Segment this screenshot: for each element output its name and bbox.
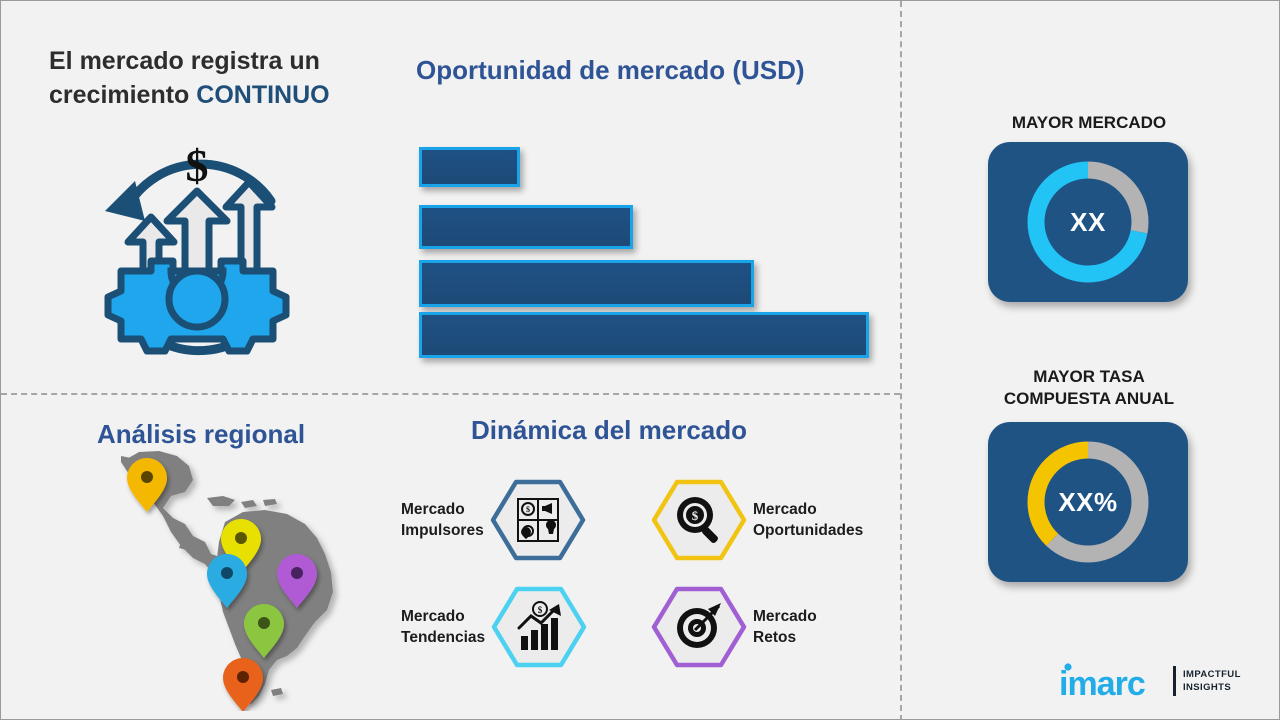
growth-heading: El mercado registra un crecimiento CONTI… [49,45,399,112]
infographic-slide: El mercado registra un crecimiento CONTI… [0,0,1280,720]
hexagon-challenges [651,586,747,668]
dollar-sign-icon: $ [186,140,209,191]
vertical-divider [900,1,902,720]
latin-america-map [119,446,369,711]
growth-heading-line2: crecimiento [49,81,196,109]
kpi-card-largest-market: XX [988,142,1188,302]
hexagon-opportunities: $ [651,479,747,561]
svg-text:imarc: imarc [1059,665,1145,701]
kpi-title-highest-cagr: MAYOR TASA COMPUESTA ANUAL [959,366,1219,410]
dynamics-item-drivers[interactable]: Mercado Impulsores $ [401,479,586,561]
dynamics-title: Dinámica del mercado [471,415,871,446]
svg-text:$: $ [538,605,543,615]
dynamics-label-opportunities: Mercado Oportunidades [753,499,863,541]
bar-2 [419,260,754,307]
growth-heading-accent: CONTINUO [196,81,329,109]
hexagon-drivers: $ [490,479,586,561]
kpi-title-largest-market: MAYOR MERCADO [959,112,1219,134]
horizontal-divider [1,393,900,395]
dynamics-label-trends: Mercado Tendencias [401,606,485,648]
bar-1 [419,205,633,249]
opportunity-title: Oportunidad de mercado (USD) [416,55,896,86]
svg-text:$: $ [526,505,530,514]
bar-0 [419,147,520,187]
dynamics-item-opportunities[interactable]: $ Mercado Oportunidades [651,479,863,561]
growth-gear-arrows-icon: $ [73,139,323,374]
svg-text:$: $ [692,508,699,523]
dynamics-label-drivers: Mercado Impulsores [401,499,484,541]
imarc-wordmark: imarc [1059,661,1171,701]
donut-chart-highest-cagr [1019,433,1157,571]
growth-heading-line1: El mercado registra un [49,47,320,75]
opportunity-bar-chart [419,147,889,357]
bar-3 [419,312,869,358]
hexagon-trends: $ [491,586,587,668]
kpi-card-highest-cagr: XX% [988,422,1188,582]
market-dynamics-group: Mercado Impulsores $ [393,479,898,679]
dynamics-item-trends[interactable]: Mercado Tendencias [401,586,587,668]
dynamics-label-challenges: Mercado Retos [753,606,817,648]
imarc-tagline: IMPACTFUL INSIGHTS [1183,668,1241,695]
logo-divider [1173,666,1176,696]
imarc-logo: imarc IMPACTFUL INSIGHTS [1059,661,1241,701]
dynamics-item-challenges[interactable]: Mercado Retos [651,586,817,668]
donut-chart-largest-market [1019,153,1157,291]
